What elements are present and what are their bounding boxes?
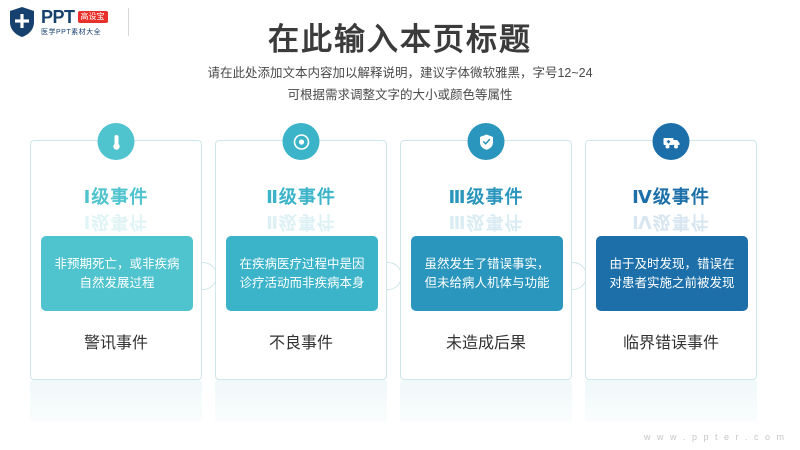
card-level-3[interactable]: Ⅲ级事件 Ⅲ级事件 虽然发生了错误事实，但未给病人机体与功能 未造成后果	[400, 140, 572, 380]
card-footer-2: 不良事件	[216, 329, 386, 353]
subtitle-line-1: 请在此处添加文本内容加以解释说明，建议字体微软雅黑，字号12~24	[0, 62, 800, 84]
card-body-1: 非预期死亡，或非疾病自然发展过程	[41, 236, 193, 311]
card-reflection-3	[400, 380, 572, 422]
page-title: 在此输入本页标题	[0, 14, 800, 59]
card-level-1[interactable]: Ⅰ级事件 Ⅰ级事件 非预期死亡，或非疾病自然发展过程 警讯事件	[30, 140, 202, 380]
card-reflection	[30, 380, 757, 422]
shield-check-icon	[468, 123, 505, 160]
card-heading-1: Ⅰ级事件 Ⅰ级事件	[31, 183, 201, 236]
card-body-4: 由于及时发现，错误在对患者实施之前被发现	[596, 236, 748, 311]
ambulance-icon	[653, 123, 690, 160]
card-reflection-1	[30, 380, 202, 422]
subtitle-line-2: 可根据需求调整文字的大小或颜色等属性	[0, 84, 800, 106]
card-body-3: 虽然发生了错误事实，但未给病人机体与功能	[411, 236, 563, 311]
card-footer-4: 临界错误事件	[586, 329, 756, 353]
card-level-4[interactable]: Ⅳ级事件 Ⅳ级事件 由于及时发现，错误在对患者实施之前被发现 临界错误事件	[585, 140, 757, 380]
card-heading-2: Ⅱ级事件 Ⅱ级事件	[216, 183, 386, 236]
card-heading-reflection-2: Ⅱ级事件	[216, 210, 386, 236]
card-heading-reflection-3: Ⅲ级事件	[401, 210, 571, 236]
card-heading-4: Ⅳ级事件 Ⅳ级事件	[586, 183, 756, 236]
card-footer-1: 警讯事件	[31, 329, 201, 353]
card-body-2: 在疾病医疗过程中是因诊疗活动而非疾病本身	[226, 236, 378, 311]
card-footer-3: 未造成后果	[401, 329, 571, 353]
card-heading-reflection-4: Ⅳ级事件	[586, 210, 756, 236]
card-level-2[interactable]: Ⅱ级事件 Ⅱ级事件 在疾病医疗过程中是因诊疗活动而非疾病本身 不良事件	[215, 140, 387, 380]
card-heading-3: Ⅲ级事件 Ⅲ级事件	[401, 183, 571, 236]
card-reflection-4	[585, 380, 757, 422]
card-heading-reflection-1: Ⅰ级事件	[31, 210, 201, 236]
thermometer-icon	[98, 123, 135, 160]
site-watermark: w w w . p p t e r . c o m	[644, 432, 786, 442]
card-group: Ⅰ级事件 Ⅰ级事件 非预期死亡，或非疾病自然发展过程 警讯事件 Ⅱ级事件 Ⅱ级事…	[0, 140, 800, 390]
card-reflection-2	[215, 380, 387, 422]
target-icon	[283, 123, 320, 160]
page-subtitle: 请在此处添加文本内容加以解释说明，建议字体微软雅黑，字号12~24 可根据需求调…	[0, 62, 800, 106]
